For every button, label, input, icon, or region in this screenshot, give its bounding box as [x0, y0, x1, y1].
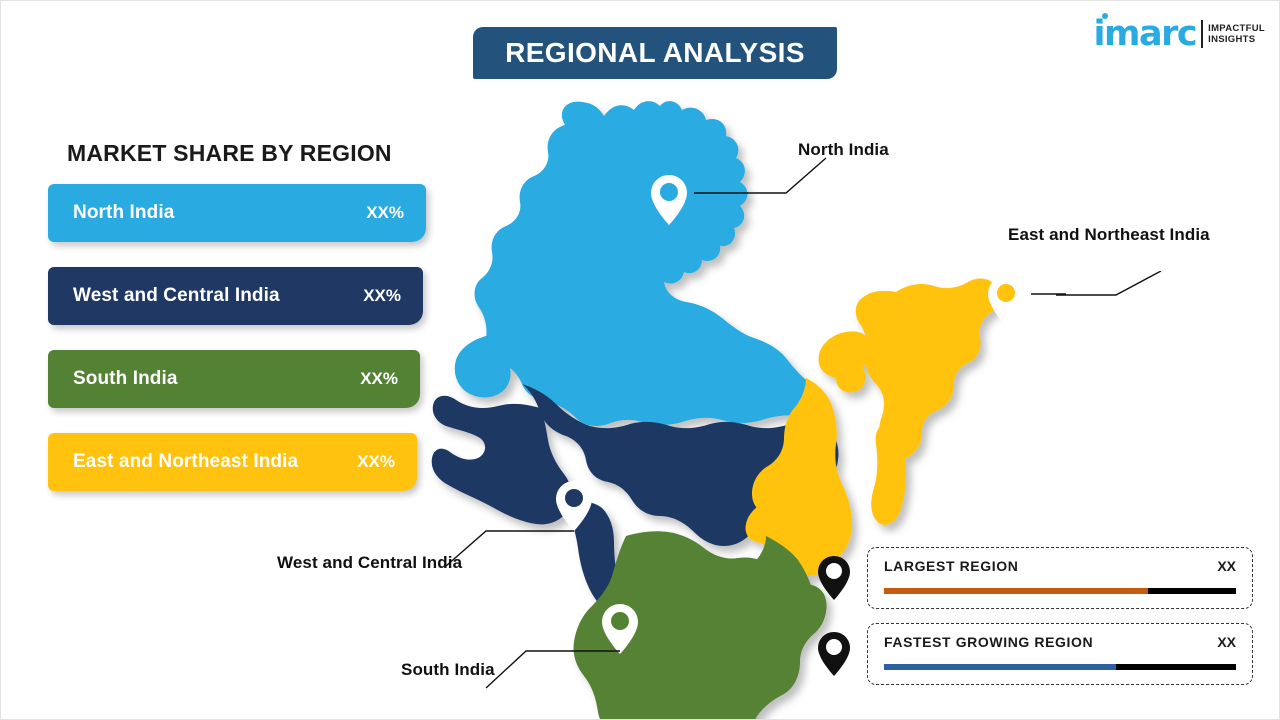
card-top-row: LARGEST REGION XX	[884, 558, 1236, 574]
fastest-growing-region-card[interactable]: FASTEST GROWING REGION XX	[867, 623, 1253, 685]
map-region-north-india-shape[interactable]	[475, 101, 832, 426]
map-callout-east-and-northeast-india: East and Northeast India	[1008, 225, 1210, 245]
slide-canvas: REGIONAL ANALYSIS imarc IMPACTFUL INSIGH…	[0, 0, 1280, 720]
legend-label: East and Northeast India	[73, 451, 298, 473]
page-title: REGIONAL ANALYSIS	[505, 37, 805, 69]
legend-value: XX%	[357, 452, 395, 472]
logo-wordmark-text: imarc	[1094, 14, 1197, 54]
map-callout-south-india: South India	[401, 660, 495, 680]
logo-tagline-line1: IMPACTFUL	[1208, 23, 1265, 35]
card-title: FASTEST GROWING REGION	[884, 634, 1093, 650]
map-pin-icon	[817, 555, 851, 601]
card-title: LARGEST REGION	[884, 558, 1018, 574]
card-value: XX	[1217, 558, 1236, 574]
progress-fill	[884, 588, 1148, 594]
leader-line-east-extension	[1056, 271, 1191, 331]
fastest-growing-region-card-row: FASTEST GROWING REGION XX	[817, 623, 1253, 685]
legend-value: XX%	[360, 369, 398, 389]
map-callout-north-india: North India	[798, 140, 889, 160]
legend-label: North India	[73, 202, 174, 224]
logo-dot-icon	[1102, 13, 1108, 19]
progress-track	[884, 588, 1236, 594]
logo-tagline-line2: INSIGHTS	[1208, 34, 1265, 46]
market-share-heading: MARKET SHARE BY REGION	[67, 140, 392, 167]
legend-value: XX%	[366, 203, 404, 223]
legend-label: South India	[73, 368, 178, 390]
legend-item-west-and-central-india[interactable]: West and Central India XX%	[48, 267, 423, 325]
legend-item-east-and-northeast-india[interactable]: East and Northeast India XX%	[48, 433, 417, 491]
logo-tagline: IMPACTFUL INSIGHTS	[1208, 23, 1265, 46]
map-pin-icon	[817, 631, 851, 677]
logo-divider	[1201, 20, 1203, 48]
legend-item-south-india[interactable]: South India XX%	[48, 350, 420, 408]
imarc-logo: imarc IMPACTFUL INSIGHTS	[1094, 17, 1265, 51]
largest-region-card[interactable]: LARGEST REGION XX	[867, 547, 1253, 609]
map-callout-west-and-central-india: West and Central India	[277, 553, 462, 573]
legend-label: West and Central India	[73, 285, 280, 307]
market-share-legend: North India XX% West and Central India X…	[48, 184, 438, 516]
card-top-row: FASTEST GROWING REGION XX	[884, 634, 1236, 650]
leader-line-west	[446, 531, 574, 566]
logo-wordmark: imarc	[1094, 17, 1197, 51]
progress-track	[884, 664, 1236, 670]
card-value: XX	[1217, 634, 1236, 650]
map-pin-east-and-northeast-india[interactable]	[988, 276, 1024, 326]
largest-region-card-row: LARGEST REGION XX	[817, 547, 1253, 609]
legend-value: XX%	[363, 286, 401, 306]
progress-fill	[884, 664, 1116, 670]
legend-item-north-india[interactable]: North India XX%	[48, 184, 426, 242]
page-title-banner: REGIONAL ANALYSIS	[473, 27, 837, 79]
